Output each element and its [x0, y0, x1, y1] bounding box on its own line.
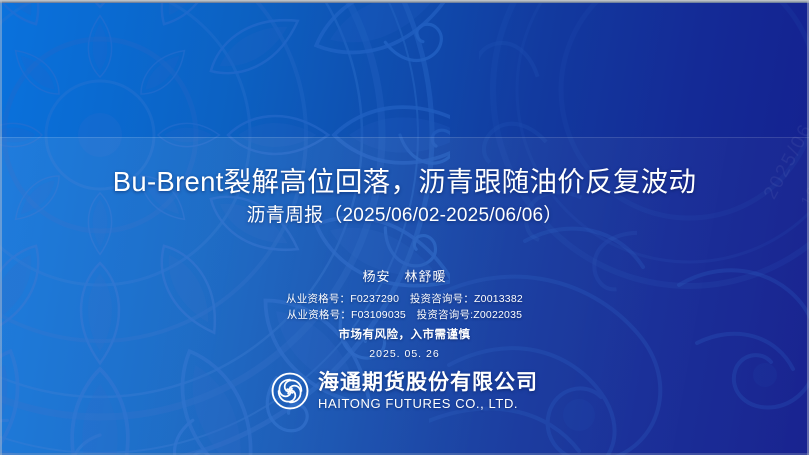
- page-title: Bu-Brent裂解高位回落，沥青跟随油价反复波动: [0, 165, 809, 199]
- company-name-en: HAITONG FUTURES CO., LTD.: [318, 397, 538, 410]
- slide-top-border: [0, 0, 809, 3]
- company-logo-text: 海通期货股份有限公司 HAITONG FUTURES CO., LTD.: [318, 372, 538, 410]
- publish-date: 2025. 05. 26: [0, 347, 809, 362]
- authors: 杨安 林舒暖: [0, 268, 809, 286]
- haitong-circular-emblem-icon: [271, 372, 309, 410]
- title-slide: 2025/06 10:2 F4... Bu-Brent裂解高位回落，沥青跟随油价…: [0, 0, 809, 455]
- company-logo: 海通期货股份有限公司 HAITONG FUTURES CO., LTD.: [0, 372, 809, 410]
- slide-left-border: [0, 0, 2, 455]
- slide-content: Bu-Brent裂解高位回落，沥青跟随油价反复波动 沥青周报（2025/06/0…: [0, 0, 809, 455]
- credential-line-1: 从业资格号：F0237290 投资咨询号：Z0013382: [0, 292, 809, 307]
- page-subtitle: 沥青周报（2025/06/02-2025/06/06）: [0, 203, 809, 229]
- risk-warning: 市场有风险，入市需谨慎: [0, 327, 809, 343]
- company-name-cn: 海通期货股份有限公司: [318, 372, 538, 393]
- credential-line-2: 从业资格号：F03109035 投资咨询号:Z0022035: [0, 308, 809, 323]
